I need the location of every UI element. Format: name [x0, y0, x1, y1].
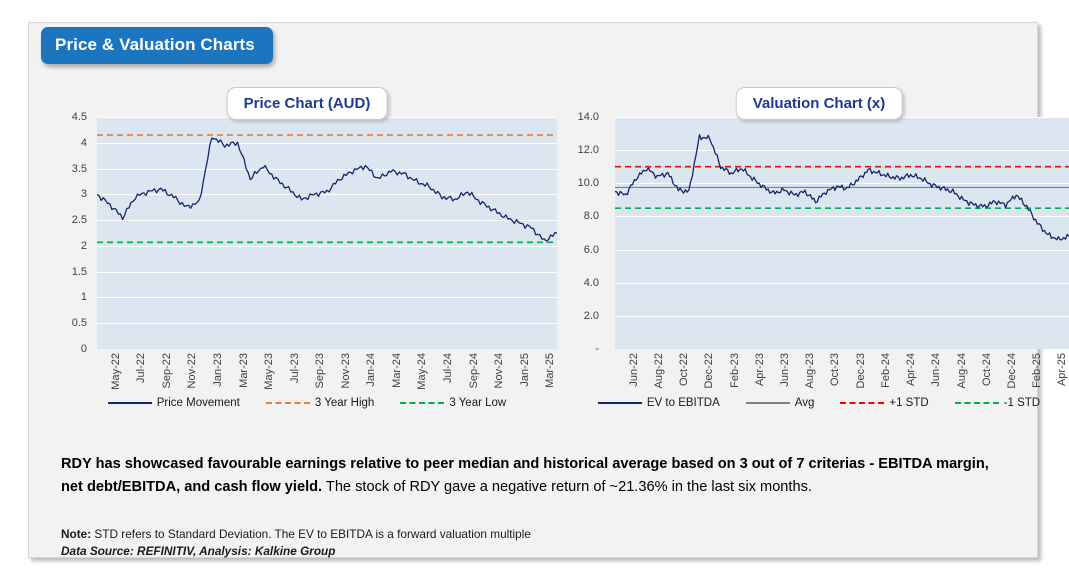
note-line: Note: STD refers to Standard Deviation. …	[61, 526, 961, 543]
legend-label: 3 Year High	[315, 397, 374, 409]
x-tick-label: Apr-23	[754, 353, 766, 386]
legend-label: 3 Year Low	[449, 397, 506, 409]
x-tick-label: Sep-23	[314, 353, 326, 388]
x-tick-label: Feb-23	[729, 353, 741, 388]
price-chart-plot-area: 00.511.522.533.544.5	[57, 117, 557, 349]
x-tick-label: Aug-22	[653, 353, 665, 388]
y-tick-label: 2.5	[72, 214, 87, 226]
series-layer	[615, 117, 1069, 349]
y-tick-label: 14.0	[578, 111, 599, 123]
valuation-chart-title: Valuation Chart (x)	[736, 87, 903, 120]
x-tick-label: Jul-22	[135, 353, 147, 383]
x-tick-label: Oct-24	[981, 353, 993, 386]
y-tick-label: 3	[81, 188, 87, 200]
x-tick-label: Jan-25	[519, 353, 531, 387]
x-tick-label: Apr-25	[1056, 353, 1068, 386]
x-tick-label: Feb-24	[880, 353, 892, 388]
x-tick-label: Nov-24	[493, 353, 505, 388]
x-tick-label: May-22	[110, 353, 122, 390]
y-tick-label: 2	[81, 240, 87, 252]
x-tick-label: Feb-25	[1031, 353, 1043, 388]
x-tick-label: Dec-24	[1006, 353, 1018, 388]
legend-item[interactable]: Price Movement	[108, 397, 240, 409]
x-tick-label: May-24	[416, 353, 428, 390]
x-tick-label: Jan-23	[212, 353, 224, 387]
x-tick-label: Mar-24	[391, 353, 403, 388]
y-tick-label: 12.0	[578, 144, 599, 156]
price-chart-y-axis: 00.511.522.533.544.5	[57, 117, 91, 349]
x-tick-label: Nov-23	[340, 353, 352, 388]
y-tick-label: 4.5	[72, 111, 87, 123]
x-tick-label: Aug-24	[956, 353, 968, 388]
x-tick-label: Dec-23	[855, 353, 867, 388]
y-tick-label: 0	[81, 343, 87, 355]
x-tick-label: Jul-23	[289, 353, 301, 383]
legend-swatch-icon	[400, 402, 444, 404]
legend-swatch-icon	[598, 402, 642, 404]
x-tick-label: Nov-22	[186, 353, 198, 388]
footnotes: Note: STD refers to Standard Deviation. …	[61, 526, 961, 560]
price-chart-canvas	[97, 117, 557, 349]
legend-swatch-icon	[108, 402, 152, 404]
note-text: STD refers to Standard Deviation. The EV…	[91, 527, 531, 541]
y-tick-label: 10.0	[578, 177, 599, 189]
x-tick-label: Sep-22	[161, 353, 173, 388]
y-tick-label: 0.5	[72, 317, 87, 329]
legend-label: Avg	[795, 397, 815, 409]
x-tick-label: Aug-23	[804, 353, 816, 388]
x-tick-label: Jan-24	[365, 353, 377, 387]
valuation-chart: Valuation Chart (x) -2.04.06.08.010.012.…	[569, 79, 1069, 429]
x-tick-label: May-23	[263, 353, 275, 390]
legend-swatch-icon	[955, 402, 999, 404]
x-tick-label: Oct-23	[829, 353, 841, 386]
legend-label: +1 STD	[889, 397, 928, 409]
x-tick-label: Mar-25	[544, 353, 556, 388]
valuation-chart-y-axis: -2.04.06.08.010.012.014.0	[569, 117, 603, 349]
note-label: Note:	[61, 527, 91, 541]
price-valuation-card: Price & Valuation Charts Price Chart (AU…	[28, 22, 1038, 558]
legend-item[interactable]: EV to EBITDA	[598, 397, 720, 409]
summary-text: RDY has showcased favourable earnings re…	[61, 453, 1011, 498]
legend-item[interactable]: 3 Year High	[266, 397, 374, 409]
y-tick-label: 8.0	[584, 210, 599, 222]
y-tick-label: 6.0	[584, 244, 599, 256]
x-tick-label: Mar-23	[238, 353, 250, 388]
legend-label: EV to EBITDA	[647, 397, 720, 409]
x-tick-label: Oct-22	[678, 353, 690, 386]
legend-item[interactable]: 3 Year Low	[400, 397, 506, 409]
legend-item[interactable]: -1 STD	[955, 397, 1040, 409]
price-chart: Price Chart (AUD) 00.511.522.533.544.5 M…	[57, 79, 557, 429]
y-tick-label: -	[595, 343, 599, 355]
x-tick-label: Sep-24	[468, 353, 480, 388]
price-chart-legend: Price Movement3 Year High3 Year Low	[57, 397, 557, 409]
summary-normal: The stock of RDY gave a negative return …	[322, 479, 812, 495]
y-tick-label: 1.5	[72, 266, 87, 278]
legend-swatch-icon	[266, 402, 310, 404]
series-layer	[97, 117, 557, 349]
x-tick-label: Jul-24	[442, 353, 454, 383]
x-tick-label: Apr-24	[905, 353, 917, 386]
legend-item[interactable]: +1 STD	[840, 397, 928, 409]
legend-label: -1 STD	[1004, 397, 1040, 409]
legend-label: Price Movement	[157, 397, 240, 409]
y-tick-label: 4	[81, 137, 87, 149]
legend-item[interactable]: Avg	[746, 397, 815, 409]
y-tick-label: 4.0	[584, 277, 599, 289]
x-tick-label: Dec-22	[703, 353, 715, 388]
valuation-chart-plot-area: -2.04.06.08.010.012.014.0	[569, 117, 1069, 349]
y-tick-label: 3.5	[72, 163, 87, 175]
x-tick-label: Jun-24	[930, 353, 942, 387]
legend-swatch-icon	[746, 402, 790, 404]
y-tick-label: 1	[81, 291, 87, 303]
x-tick-label: Jun-22	[628, 353, 640, 387]
y-tick-label: 2.0	[584, 310, 599, 322]
x-tick-label: Jun-23	[779, 353, 791, 387]
valuation-chart-legend: EV to EBITDAAvg+1 STD-1 STD	[569, 397, 1069, 409]
valuation-chart-canvas	[615, 117, 1069, 349]
price-chart-title: Price Chart (AUD)	[227, 87, 388, 120]
data-series-line	[97, 138, 557, 241]
legend-swatch-icon	[840, 402, 884, 404]
data-source: Data Source: REFINITIV, Analysis: Kalkin…	[61, 543, 961, 560]
page-title: Price & Valuation Charts	[41, 27, 273, 64]
